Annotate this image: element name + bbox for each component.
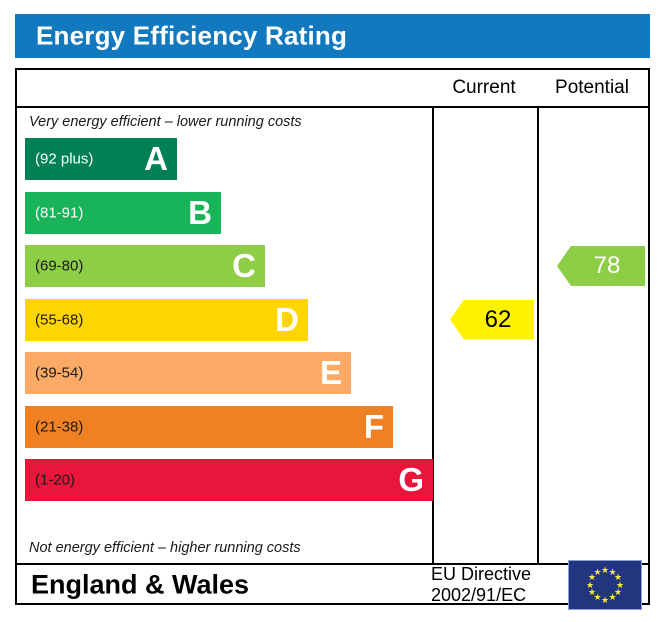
band-a: (92 plus)A [25, 138, 177, 180]
band-letter-e: E [320, 356, 342, 389]
eu-flag-star: ★ [593, 568, 602, 577]
band-letter-d: D [275, 302, 299, 335]
footer: England & Wales EU Directive 2002/91/EC … [17, 563, 648, 605]
band-g: (1-20)G [25, 459, 433, 501]
region-label: England & Wales [31, 570, 249, 601]
band-letter-c: C [232, 249, 256, 282]
band-e: (39-54)E [25, 352, 351, 394]
band-b: (81-91)B [25, 192, 221, 234]
band-c: (69-80)C [25, 245, 265, 287]
band-range-c: (69-80) [35, 258, 83, 275]
band-d: (55-68)D [25, 299, 308, 341]
eu-directive-line1: EU Directive [431, 564, 531, 584]
band-range-f: (21-38) [35, 418, 83, 435]
band-range-b: (81-91) [35, 204, 83, 221]
band-letter-f: F [364, 409, 384, 442]
eu-flag-icon: ★★★★★★★★★★★★ [568, 560, 642, 610]
current-rating-marker: 62 [450, 300, 534, 340]
eu-directive-label: EU Directive 2002/91/EC [431, 564, 531, 606]
column-divider-2 [537, 108, 539, 563]
note-not-efficient: Not energy efficient – higher running co… [29, 540, 301, 556]
band-letter-a: A [144, 142, 168, 175]
energy-efficiency-certificate: Energy Efficiency Rating Current Potenti… [0, 0, 664, 622]
column-header-potential: Potential [537, 70, 647, 106]
page-title: Energy Efficiency Rating [36, 21, 347, 52]
eu-directive-line2: 2002/91/EC [431, 585, 526, 605]
band-letter-g: G [398, 463, 424, 496]
band-chart: Very energy efficient – lower running co… [17, 108, 432, 563]
band-range-g: (1-20) [35, 472, 75, 489]
potential-rating-value: 78 [594, 252, 621, 279]
current-rating-value: 62 [485, 306, 512, 333]
column-header-row: Current Potential [17, 70, 648, 108]
band-letter-b: B [188, 195, 212, 228]
rating-table: Current Potential Very energy efficient … [15, 68, 650, 605]
column-header-current: Current [432, 70, 536, 106]
band-range-d: (55-68) [35, 311, 83, 328]
band-range-e: (39-54) [35, 365, 83, 382]
note-very-efficient: Very energy efficient – lower running co… [29, 114, 302, 130]
potential-rating-marker: 78 [557, 246, 645, 286]
chart-title-bar: Energy Efficiency Rating [15, 14, 650, 58]
band-range-a: (92 plus) [35, 151, 93, 168]
band-f: (21-38)F [25, 406, 393, 448]
